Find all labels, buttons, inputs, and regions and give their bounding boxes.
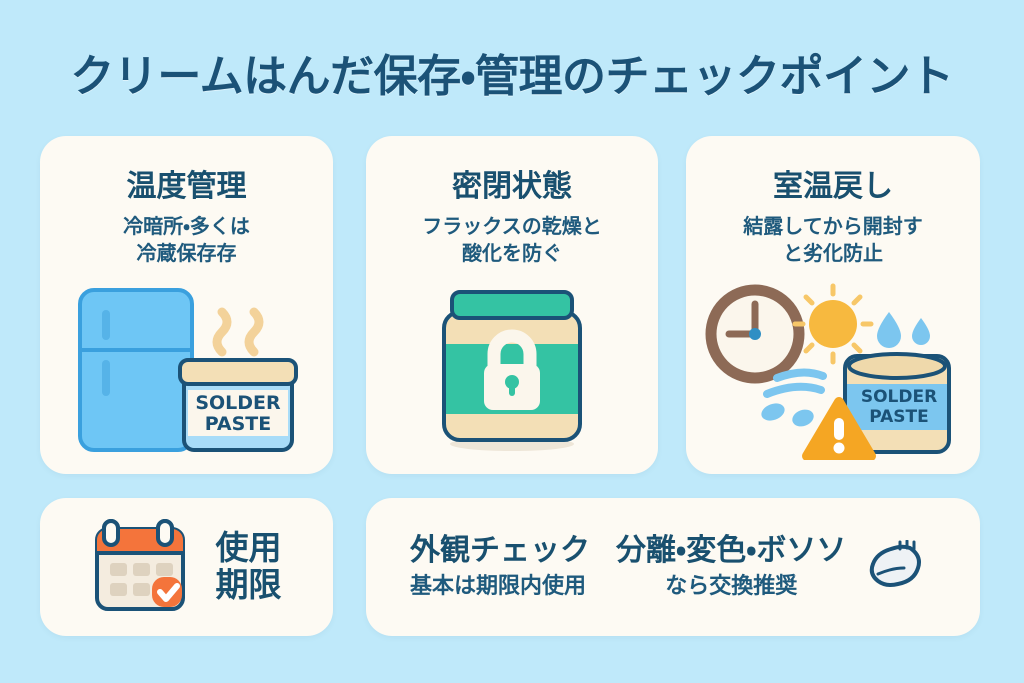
card-expiry: 使用 期限 xyxy=(40,498,333,636)
page-title: クリームはんだ保存・管理のチェックポイント xyxy=(0,40,1024,104)
card-room-temperature-subtitle: 結露してから開封す と劣化防止 xyxy=(686,213,980,267)
refrigerator-icon: SOLDER PASTE xyxy=(72,282,302,457)
appearance-check-right: 分離・変色・ボソソ なら交換推奨 xyxy=(616,534,924,601)
jar-label-line2: PASTE xyxy=(869,407,929,427)
appearance-check-left-subtitle: 基本は期限内使用 xyxy=(410,574,590,600)
jar-with-lock-icon xyxy=(422,282,602,454)
card-room-temperature: 室温戻し 結露してから開封す と劣化防止 xyxy=(686,136,980,474)
card-temperature-subtitle-line2: 冷蔵保存存 xyxy=(58,240,315,267)
card-room-temperature-subtitle-line2: と劣化防止 xyxy=(704,240,962,267)
card-expiry-heading-line2: 期限 xyxy=(216,567,282,604)
card-expiry-heading: 使用 期限 xyxy=(216,530,282,604)
card-airtight-subtitle-line1: フラックスの乾燥と xyxy=(384,213,640,240)
appearance-check-left-heading: 外観チェック xyxy=(410,534,590,569)
infographic-page: クリームはんだ保存・管理のチェックポイント 温度管理 冷暗所・多くは 冷蔵保存存 xyxy=(0,0,1024,683)
card-temperature-heading: 温度管理 xyxy=(40,170,333,203)
card-expiry-heading-line1: 使用 xyxy=(216,530,282,567)
card-airtight: 密閉状態 フラックスの乾燥と 酸化を防ぐ xyxy=(366,136,658,474)
calendar-illustration xyxy=(92,515,198,619)
card-room-temperature-heading: 室温戻し xyxy=(686,170,980,203)
spatula-inspect-icon xyxy=(862,540,924,594)
card-temperature: 温度管理 冷暗所・多くは 冷蔵保存存 SOLDER PASTE xyxy=(40,136,333,474)
appearance-check-right-heading: 分離・変色・ボソソ xyxy=(616,534,846,569)
jar-label-line2: PASTE xyxy=(204,413,271,435)
card-appearance-check: 外観チェック 基本は期限内使用 分離・変色・ボソソ なら交換推奨 xyxy=(366,498,980,636)
clock-sun-jar-warning-icon: SOLDER PASTE xyxy=(693,282,973,460)
card-airtight-subtitle-line2: 酸化を防ぐ xyxy=(384,240,640,267)
room-temperature-illustration: SOLDER PASTE xyxy=(686,282,980,462)
card-airtight-subtitle: フラックスの乾燥と 酸化を防ぐ xyxy=(366,213,658,267)
refrigerator-illustration: SOLDER PASTE xyxy=(40,282,333,462)
jar-label-line1: SOLDER xyxy=(195,392,281,414)
calendar-check-icon xyxy=(92,515,198,615)
appearance-check-left: 外観チェック 基本は期限内使用 xyxy=(410,534,590,601)
sealed-jar-illustration xyxy=(366,282,658,462)
appearance-check-right-subtitle: なら交換推奨 xyxy=(616,574,846,600)
card-temperature-subtitle-line1: 冷暗所・多くは xyxy=(58,213,315,240)
jar-label-line1: SOLDER xyxy=(861,387,937,407)
card-temperature-subtitle: 冷暗所・多くは 冷蔵保存存 xyxy=(40,213,333,267)
card-room-temperature-subtitle-line1: 結露してから開封す xyxy=(704,213,962,240)
card-airtight-heading: 密閉状態 xyxy=(366,170,658,203)
